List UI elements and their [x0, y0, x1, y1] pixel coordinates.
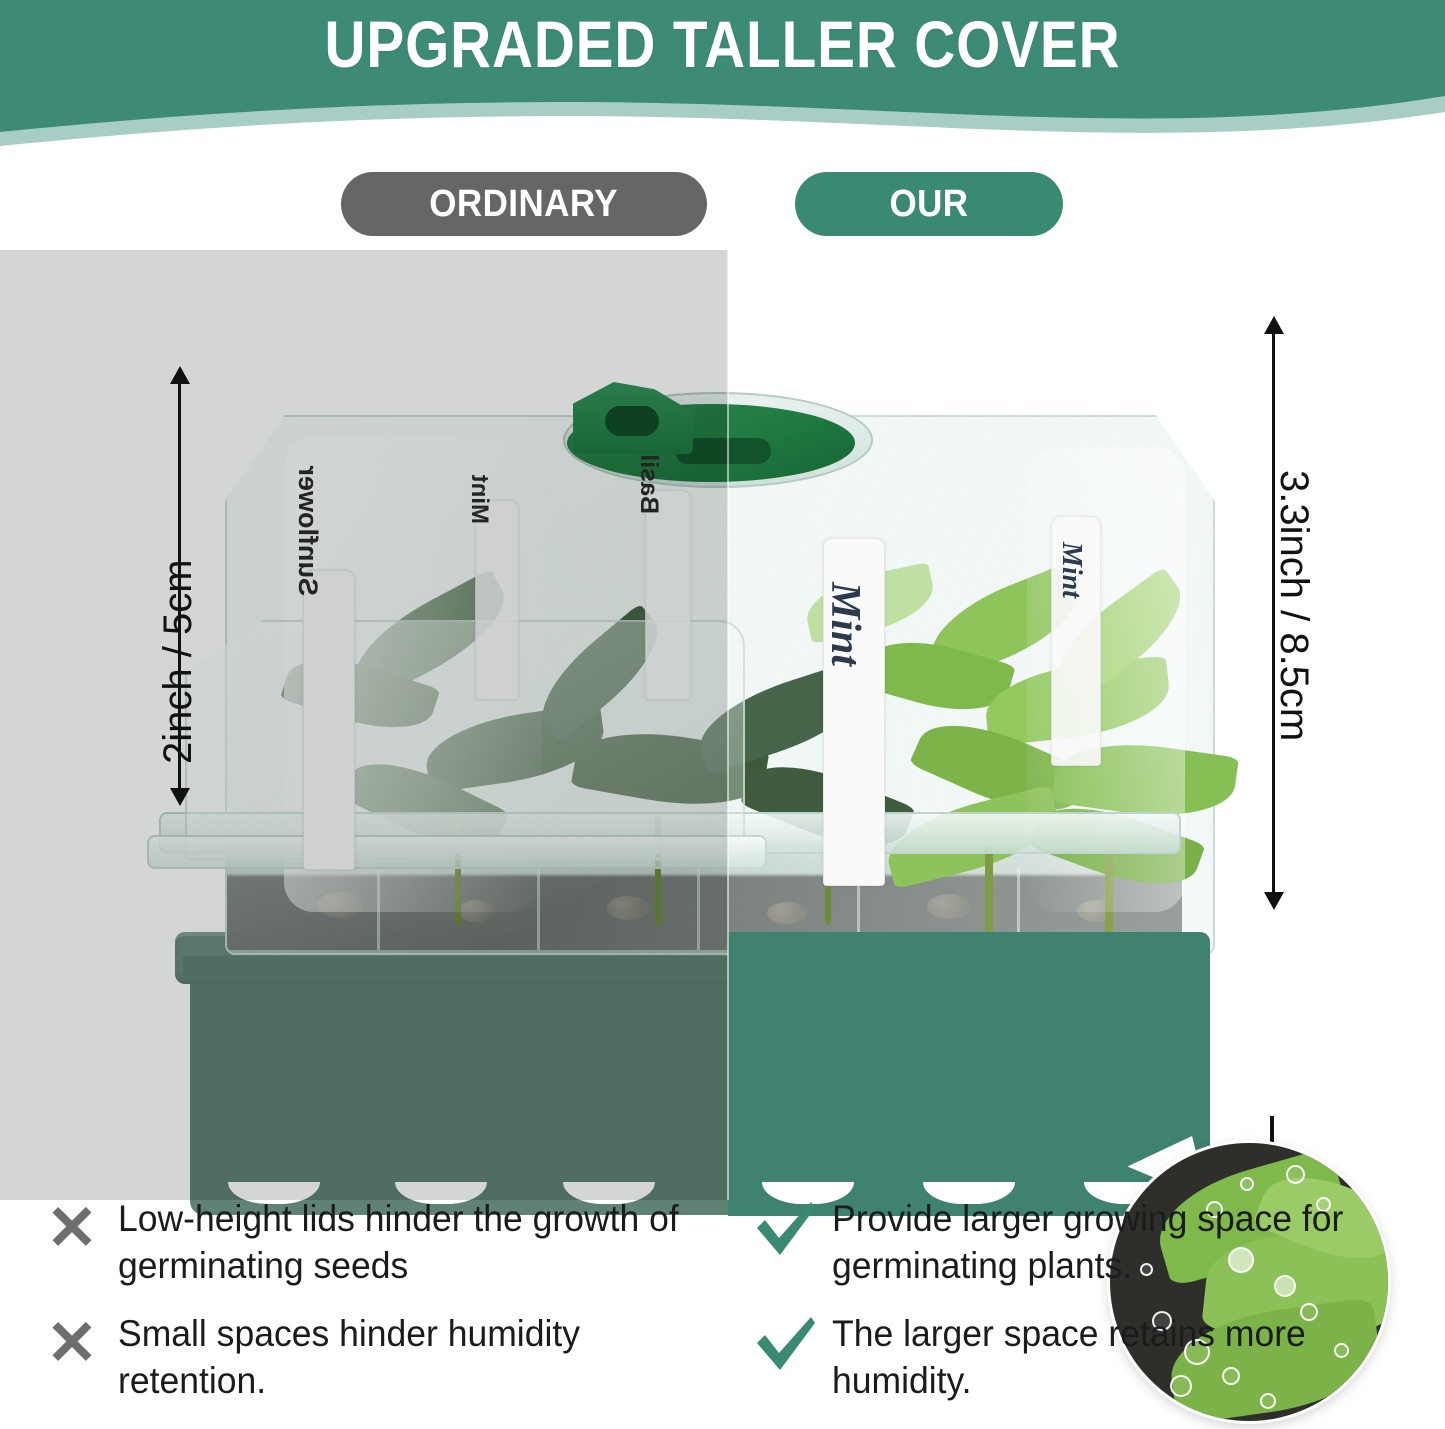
bullet-text: Provide larger growing space for germina… — [832, 1196, 1416, 1289]
measurement-our-arrow-bottom — [1264, 892, 1284, 910]
plant-marker-ordinary-2 — [475, 500, 519, 700]
check-mark-icon — [740, 1311, 832, 1373]
measurement-ordinary-arrow-top — [170, 366, 190, 384]
benefit-bullets: ✕ Low-height lids hinder the growth of g… — [0, 1196, 1445, 1429]
vent-tab-hole — [605, 406, 659, 436]
plant-marker-ordinary-1-text: Sunflower — [292, 465, 323, 596]
product-comparison-photo: Sunflower Mint Basil Mint Mint — [0, 250, 1445, 1200]
measurement-our-label: 3.3inch / 8.5cm — [1271, 470, 1316, 741]
bullet-row: ✕ Low-height lids hinder the growth of g… — [26, 1196, 726, 1289]
bullet-text: Low-height lids hinder the growth of ger… — [118, 1196, 702, 1289]
bullet-row: ✕ Small spaces hinder humidity retention… — [26, 1311, 726, 1404]
page-title: UPGRADED TALLER COVER — [101, 6, 1344, 82]
bullets-our-column: Provide larger growing space for germina… — [740, 1196, 1440, 1426]
plant-marker-our-2-text: Mint — [1055, 542, 1087, 598]
seed-starter-tray: Sunflower Mint Basil Mint Mint — [175, 320, 1240, 1220]
header-banner: UPGRADED TALLER COVER — [0, 0, 1445, 150]
bullet-row: Provide larger growing space for germina… — [740, 1196, 1440, 1289]
measurement-ordinary-arrow-bottom — [170, 788, 190, 806]
plant-marker-mint-text: Mint — [821, 582, 869, 666]
comparison-badges: ORDINARY OUR — [0, 172, 1445, 242]
plant-marker-ordinary-2-text: Mint — [465, 475, 493, 524]
plant-marker-ordinary-3-text: Basil — [634, 454, 663, 514]
plant-marker-ordinary-1 — [303, 570, 355, 870]
badge-ordinary-label: ORDINARY — [430, 183, 619, 226]
measurement-our-arrow-top — [1264, 316, 1284, 334]
x-mark-icon: ✕ — [26, 1311, 118, 1374]
check-mark-icon — [740, 1196, 832, 1258]
bullet-text: The larger space retains more humidity. — [832, 1311, 1416, 1404]
badge-ordinary: ORDINARY — [341, 172, 707, 236]
badge-our-label: OUR — [889, 183, 968, 226]
measurement-ordinary-label: 2inch / 5cm — [156, 559, 201, 764]
infographic-page: UPGRADED TALLER COVER ORDINARY OUR — [0, 0, 1445, 1429]
short-lid-flange — [147, 835, 767, 869]
bullet-text: Small spaces hinder humidity retention. — [118, 1311, 702, 1404]
bullet-row: The larger space retains more humidity. — [740, 1311, 1440, 1404]
bullets-ordinary-column: ✕ Low-height lids hinder the growth of g… — [26, 1196, 726, 1426]
badge-our: OUR — [795, 172, 1063, 236]
plant-marker-ordinary-3 — [645, 490, 691, 700]
x-mark-icon: ✕ — [26, 1196, 118, 1259]
